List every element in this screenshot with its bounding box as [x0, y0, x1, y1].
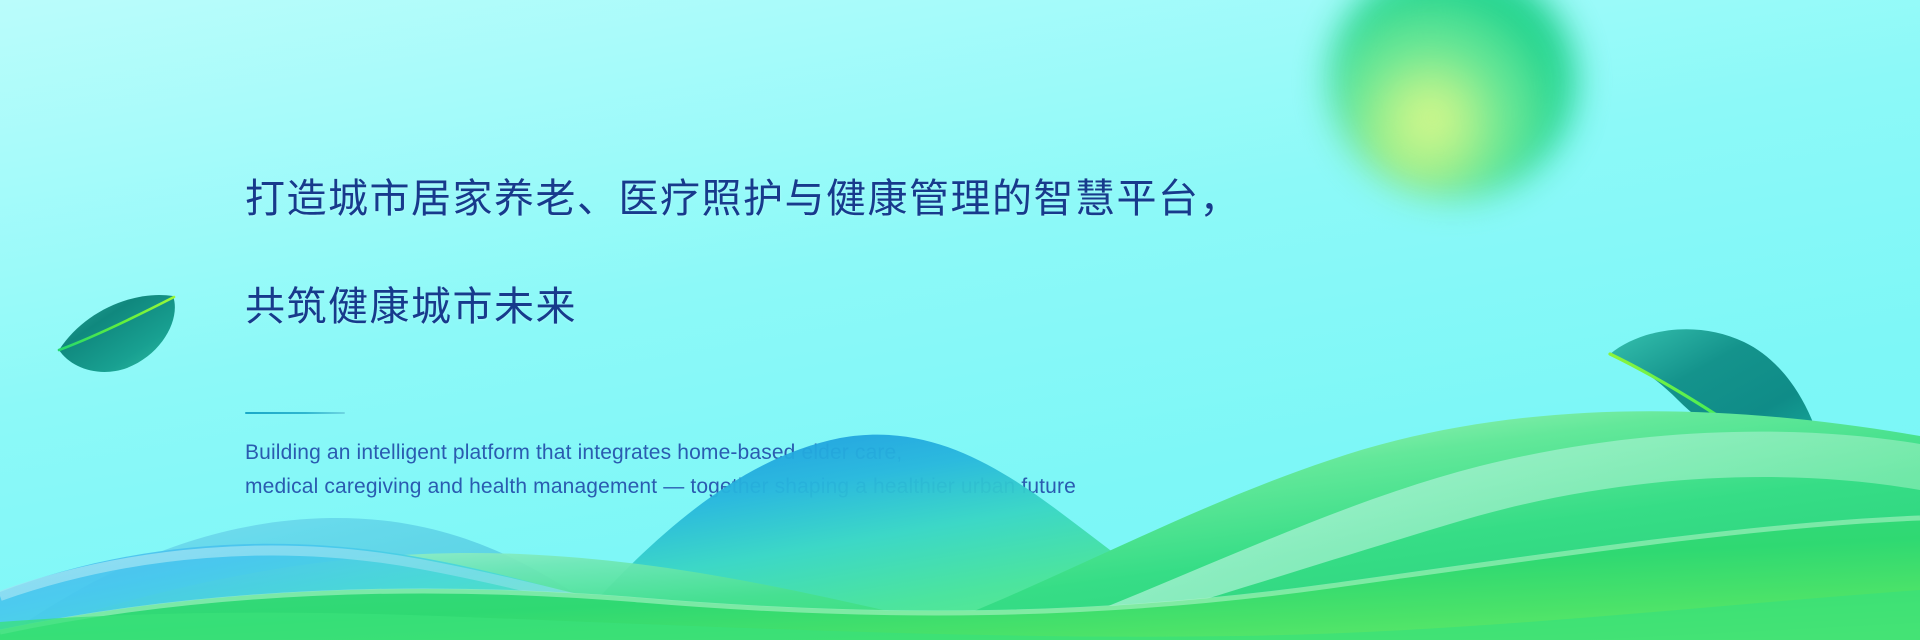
wave-hills-decoration — [0, 340, 1920, 640]
headline-line-1: 打造城市居家养老、医疗照护与健康管理的智慧平台， — [245, 172, 1345, 226]
headline-line-2: 共筑健康城市未来 — [245, 280, 1345, 334]
hero-banner: 打造城市居家养老、医疗照护与健康管理的智慧平台， 共筑健康城市未来 Buildi… — [0, 0, 1920, 640]
